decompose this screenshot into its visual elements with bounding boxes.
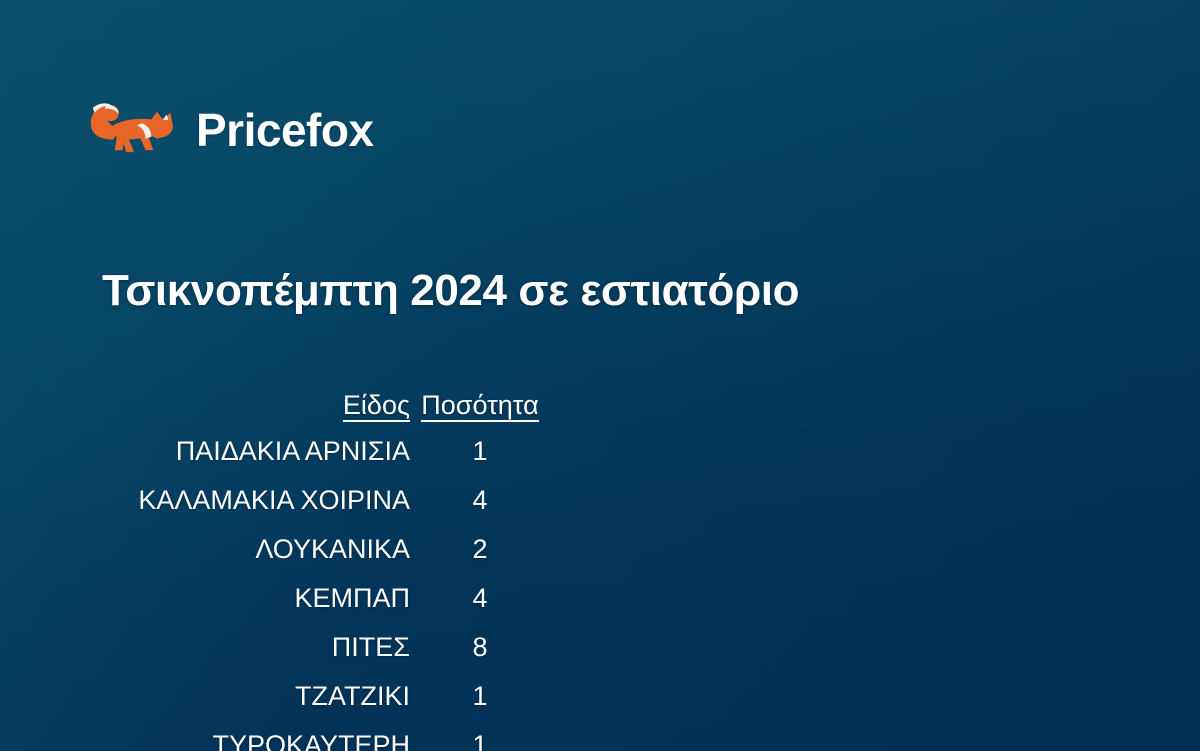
page-title: Τσικνοπέμπτη 2024 σε εστιατόριο (102, 266, 1200, 316)
fox-logo-icon (86, 96, 182, 164)
cell-quantity: 1 (410, 672, 550, 721)
cell-item: ΚΑΛΑΜΑΚΙΑ ΧΟΙΡΙΝΑ (110, 476, 410, 525)
cell-item: ΠΙΤΕΣ (110, 623, 410, 672)
cell-spacer (550, 476, 630, 525)
cell-quantity: 4 (410, 574, 550, 623)
table-header-row: Είδος Ποσότητα (110, 392, 630, 427)
column-header-quantity-label: Ποσότητα (421, 392, 538, 422)
column-header-spacer (550, 392, 630, 427)
items-table-body: ΠΑΙΔΑΚΙΑ ΑΡΝΙΣΙΑ1ΚΑΛΑΜΑΚΙΑ ΧΟΙΡΙΝΑ4ΛΟΥΚΑ… (110, 427, 630, 751)
cell-spacer (550, 525, 630, 574)
cell-item: ΛΟΥΚΑΝΙΚΑ (110, 525, 410, 574)
table-row: ΠΑΙΔΑΚΙΑ ΑΡΝΙΣΙΑ1 (110, 427, 630, 476)
items-table: Είδος Ποσότητα ΠΑΙΔΑΚΙΑ ΑΡΝΙΣΙΑ1ΚΑΛΑΜΑΚΙ… (110, 392, 630, 751)
table-row: ΤΥΡΟΚΑΥΤΕΡΗ1 (110, 721, 630, 751)
brand-lockup: Pricefox (86, 96, 1200, 164)
table-row: ΛΟΥΚΑΝΙΚΑ2 (110, 525, 630, 574)
table-row: ΠΙΤΕΣ8 (110, 623, 630, 672)
brand-name: Pricefox (196, 107, 374, 153)
items-table-head: Είδος Ποσότητα (110, 392, 630, 427)
cell-item: ΠΑΙΔΑΚΙΑ ΑΡΝΙΣΙΑ (110, 427, 410, 476)
cell-quantity: 8 (410, 623, 550, 672)
cell-quantity: 4 (410, 476, 550, 525)
cell-item: ΤΖΑΤΖΙΚΙ (110, 672, 410, 721)
column-header-item-label: Είδος (343, 392, 410, 422)
column-header-quantity: Ποσότητα (410, 392, 550, 427)
cell-quantity: 1 (410, 721, 550, 751)
table-row: ΚΕΜΠΑΠ4 (110, 574, 630, 623)
cell-item: ΤΥΡΟΚΑΥΤΕΡΗ (110, 721, 410, 751)
slide-canvas: Pricefox Τσικνοπέμπτη 2024 σε εστιατόριο… (0, 0, 1200, 751)
cell-spacer (550, 672, 630, 721)
column-header-item: Είδος (110, 392, 410, 427)
cell-spacer (550, 574, 630, 623)
cell-spacer (550, 721, 630, 751)
cell-spacer (550, 623, 630, 672)
cell-spacer (550, 427, 630, 476)
cell-quantity: 2 (410, 525, 550, 574)
cell-item: ΚΕΜΠΑΠ (110, 574, 410, 623)
cell-quantity: 1 (410, 427, 550, 476)
receipt-table: Είδος Ποσότητα ΠΑΙΔΑΚΙΑ ΑΡΝΙΣΙΑ1ΚΑΛΑΜΑΚΙ… (110, 392, 630, 751)
table-row: ΚΑΛΑΜΑΚΙΑ ΧΟΙΡΙΝΑ4 (110, 476, 630, 525)
table-row: ΤΖΑΤΖΙΚΙ1 (110, 672, 630, 721)
